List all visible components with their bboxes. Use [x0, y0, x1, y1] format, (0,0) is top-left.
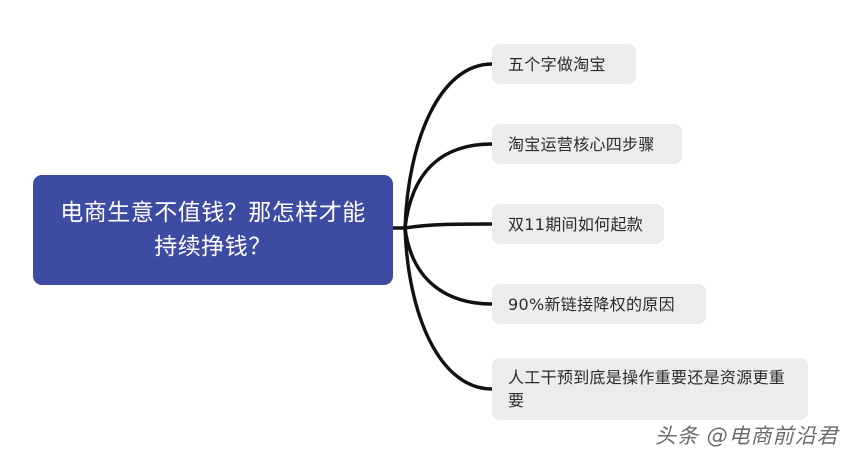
- branch-node-2[interactable]: 淘宝运营核心四步骤: [492, 124, 682, 164]
- connector-branch-3: [405, 224, 492, 228]
- connector-branch-5: [405, 228, 492, 389]
- branch-node-5-label: 人工干预到底是操作重要还是资源更重要: [508, 366, 792, 412]
- connector-branch-4: [405, 228, 492, 304]
- branch-node-2-label: 淘宝运营核心四步骤: [508, 132, 655, 157]
- branch-node-5[interactable]: 人工干预到底是操作重要还是资源更重要: [492, 358, 808, 420]
- connector-branch-1: [405, 64, 492, 228]
- mindmap-canvas: 电商生意不值钱？那怎样才能持续挣钱？ 五个字做淘宝 淘宝运营核心四步骤 双11期…: [0, 0, 861, 456]
- branch-node-3[interactable]: 双11期间如何起款: [492, 204, 664, 244]
- branch-node-4[interactable]: 90%新链接降权的原因: [492, 284, 706, 324]
- root-node[interactable]: 电商生意不值钱？那怎样才能持续挣钱？: [33, 175, 393, 285]
- root-node-label: 电商生意不值钱？那怎样才能持续挣钱？: [51, 196, 375, 264]
- watermark-text: 头条 @电商前沿君: [655, 420, 839, 450]
- branch-node-4-label: 90%新链接降权的原因: [508, 292, 675, 317]
- branch-node-1[interactable]: 五个字做淘宝: [492, 44, 636, 84]
- connector-branch-2: [405, 144, 492, 228]
- branch-node-1-label: 五个字做淘宝: [508, 52, 606, 77]
- branch-node-3-label: 双11期间如何起款: [508, 212, 643, 237]
